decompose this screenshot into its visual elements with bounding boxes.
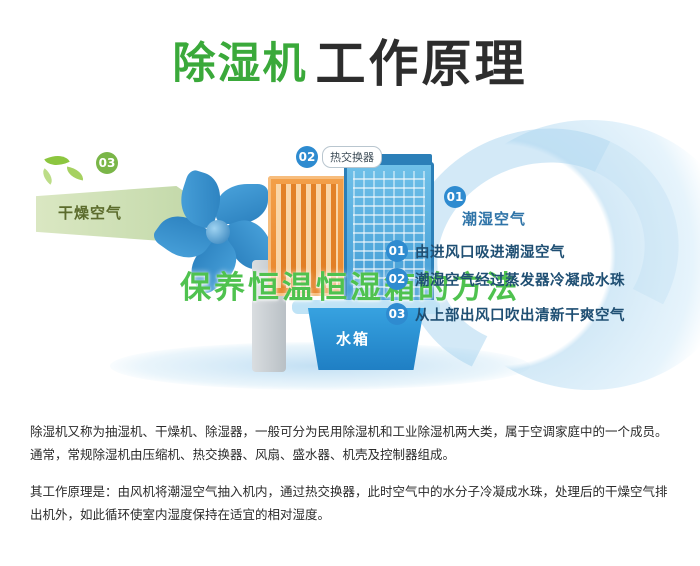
- water-tank-label: 水箱: [336, 328, 370, 349]
- step-list: 02 潮湿空气经过蒸发器冷凝成水珠 03 从上部出风口吹出清新干爽空气: [386, 268, 686, 338]
- dry-air-label: 干燥空气: [58, 202, 122, 223]
- dehumidifier-diagram: 干燥空气 03 02 热交换器 01 潮湿空气: [0, 110, 700, 410]
- moist-air-label: 潮湿空气: [462, 208, 526, 229]
- badge-number: 01: [444, 186, 466, 208]
- leaf-icon: [39, 168, 56, 185]
- badge-number: 02: [386, 268, 408, 290]
- page-title-green: 除湿机: [173, 39, 308, 89]
- paragraph-2: 其工作原理是：由风机将潮湿空气抽入机内，通过热交换器，此时空气中的水分子冷凝成水…: [30, 480, 676, 526]
- step-text: 由进风口吸进潮湿空气: [415, 241, 565, 262]
- step-text: 潮湿空气经过蒸发器冷凝成水珠: [415, 269, 625, 290]
- badge-01-right: 01: [444, 186, 466, 208]
- paragraph-1: 除湿机又称为抽湿机、干燥机、除湿器，一般可分为民用除湿机和工业除湿机两大类，属于…: [30, 420, 676, 466]
- step-item-01: 01 由进风口吸进潮湿空气: [386, 240, 565, 262]
- poster-root: 除湿机工作原理 干燥空气 03: [0, 0, 700, 566]
- heat-exchanger-label: 热交换器: [322, 146, 382, 168]
- step-item-03: 03 从上部出风口吹出清新干爽空气: [386, 303, 686, 325]
- fan-blade: [216, 184, 268, 224]
- step-item-02: 02 潮湿空气经过蒸发器冷凝成水珠: [386, 268, 686, 290]
- heat-exchanger-callout: 02 热交换器: [296, 146, 382, 168]
- badge-number: 02: [296, 146, 318, 168]
- page-title: 除湿机工作原理: [0, 24, 700, 96]
- body-text: 除湿机又称为抽湿机、干燥机、除湿器，一般可分为民用除湿机和工业除湿机两大类，属于…: [30, 420, 676, 526]
- badge-number: 01: [386, 240, 408, 262]
- step-text: 从上部出风口吹出清新干爽空气: [415, 304, 625, 325]
- badge-03-left: 03: [96, 152, 118, 174]
- badge-number: 03: [96, 152, 118, 174]
- fan-hub: [206, 220, 230, 244]
- badge-number: 03: [386, 303, 408, 325]
- page-title-dark: 工作原理: [316, 35, 528, 93]
- leaf-icon: [65, 167, 85, 181]
